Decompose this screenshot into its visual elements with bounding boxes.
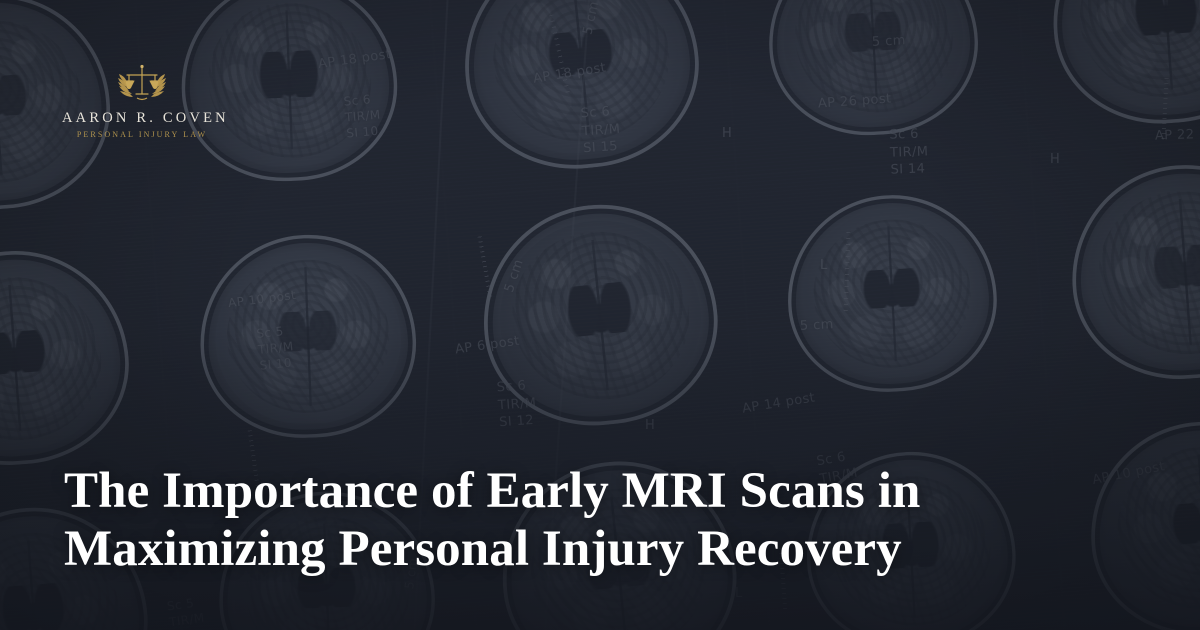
scales-of-justice-icon <box>111 62 173 106</box>
article-hero-banner: AP 18 postSc 6 TIR/M SI 10AP 18 postSc 6… <box>0 0 1200 630</box>
page-title: The Importance of Early MRI Scans in Max… <box>64 462 1064 578</box>
firm-name: AARON R. COVEN <box>62 110 222 127</box>
headline-line-2: Maximizing Personal Injury Recovery <box>64 520 1064 578</box>
firm-logo[interactable]: AARON R. COVEN PERSONAL INJURY LAW <box>62 62 222 139</box>
headline-line-1: The Importance of Early MRI Scans in <box>64 462 1064 520</box>
firm-tagline: PERSONAL INJURY LAW <box>62 130 222 139</box>
